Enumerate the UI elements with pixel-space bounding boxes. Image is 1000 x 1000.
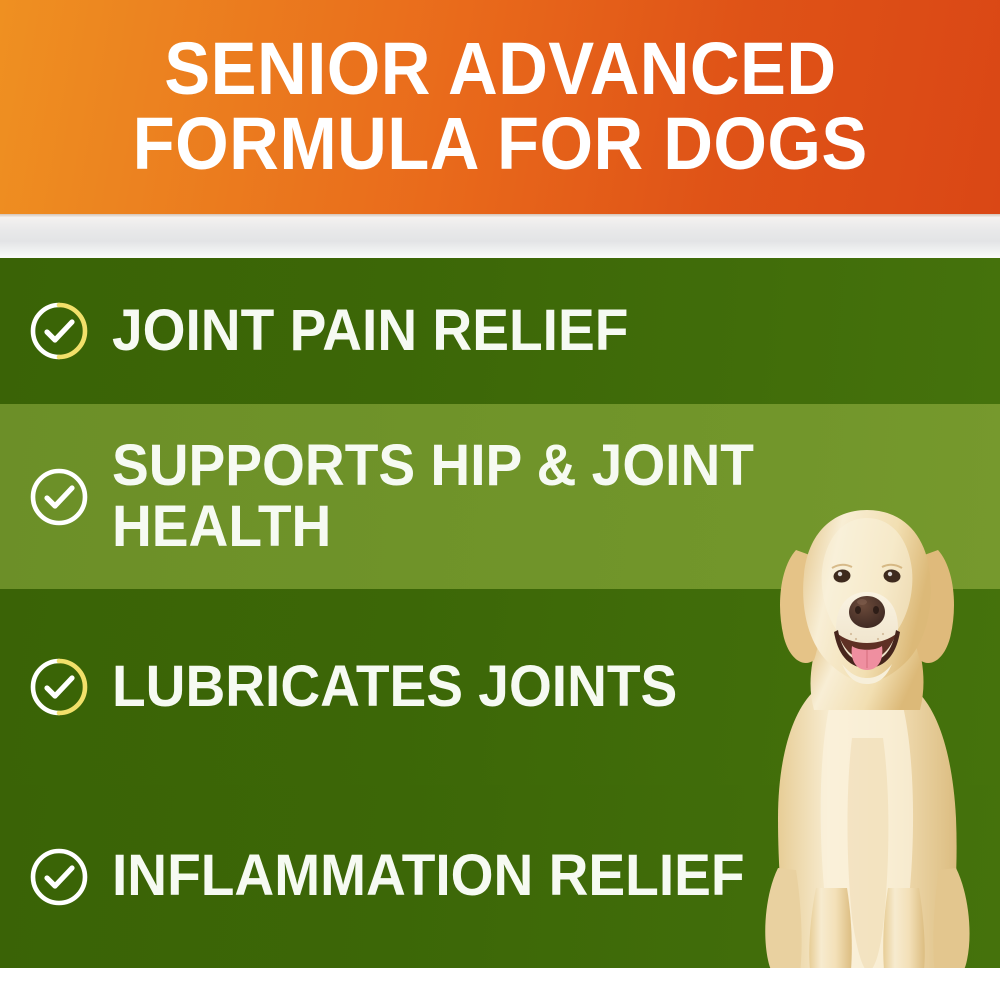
check-circle-icon	[28, 466, 90, 528]
benefit-row-joint-pain-relief: JOINT PAIN RELIEF	[0, 258, 1000, 404]
check-circle-icon	[28, 300, 90, 362]
header-separator-strip	[0, 214, 1000, 258]
benefit-row-lubricates-joints: LUBRICATES JOINTS	[0, 589, 1000, 785]
benefit-label: INFLAMMATION RELIEF	[112, 846, 745, 906]
benefit-label: LUBRICATES JOINTS	[112, 657, 677, 717]
check-circle-icon	[28, 846, 90, 908]
benefit-row-inflammation-relief: INFLAMMATION RELIEF	[0, 785, 1000, 968]
header-banner: SENIOR ADVANCED FORMULA FOR DOGS	[0, 0, 1000, 214]
header-title-line-1: SENIOR ADVANCED	[164, 33, 836, 106]
separator-shadow	[0, 214, 1000, 217]
benefit-label: JOINT PAIN RELIEF	[112, 301, 628, 361]
header-title-line-2: FORMULA FOR DOGS	[132, 108, 867, 181]
product-benefits-poster: SENIOR ADVANCED FORMULA FOR DOGS JOINT P…	[0, 0, 1000, 1000]
benefit-label: SUPPORTS HIP & JOINT HEALTH	[112, 436, 948, 557]
benefit-row-supports-hip-joint-health: SUPPORTS HIP & JOINT HEALTH	[0, 404, 1000, 589]
benefits-section: JOINT PAIN RELIEF SUPPORTS HIP & JOINT H…	[0, 258, 1000, 968]
bottom-white-margin	[0, 968, 1000, 1000]
check-circle-icon	[28, 656, 90, 718]
